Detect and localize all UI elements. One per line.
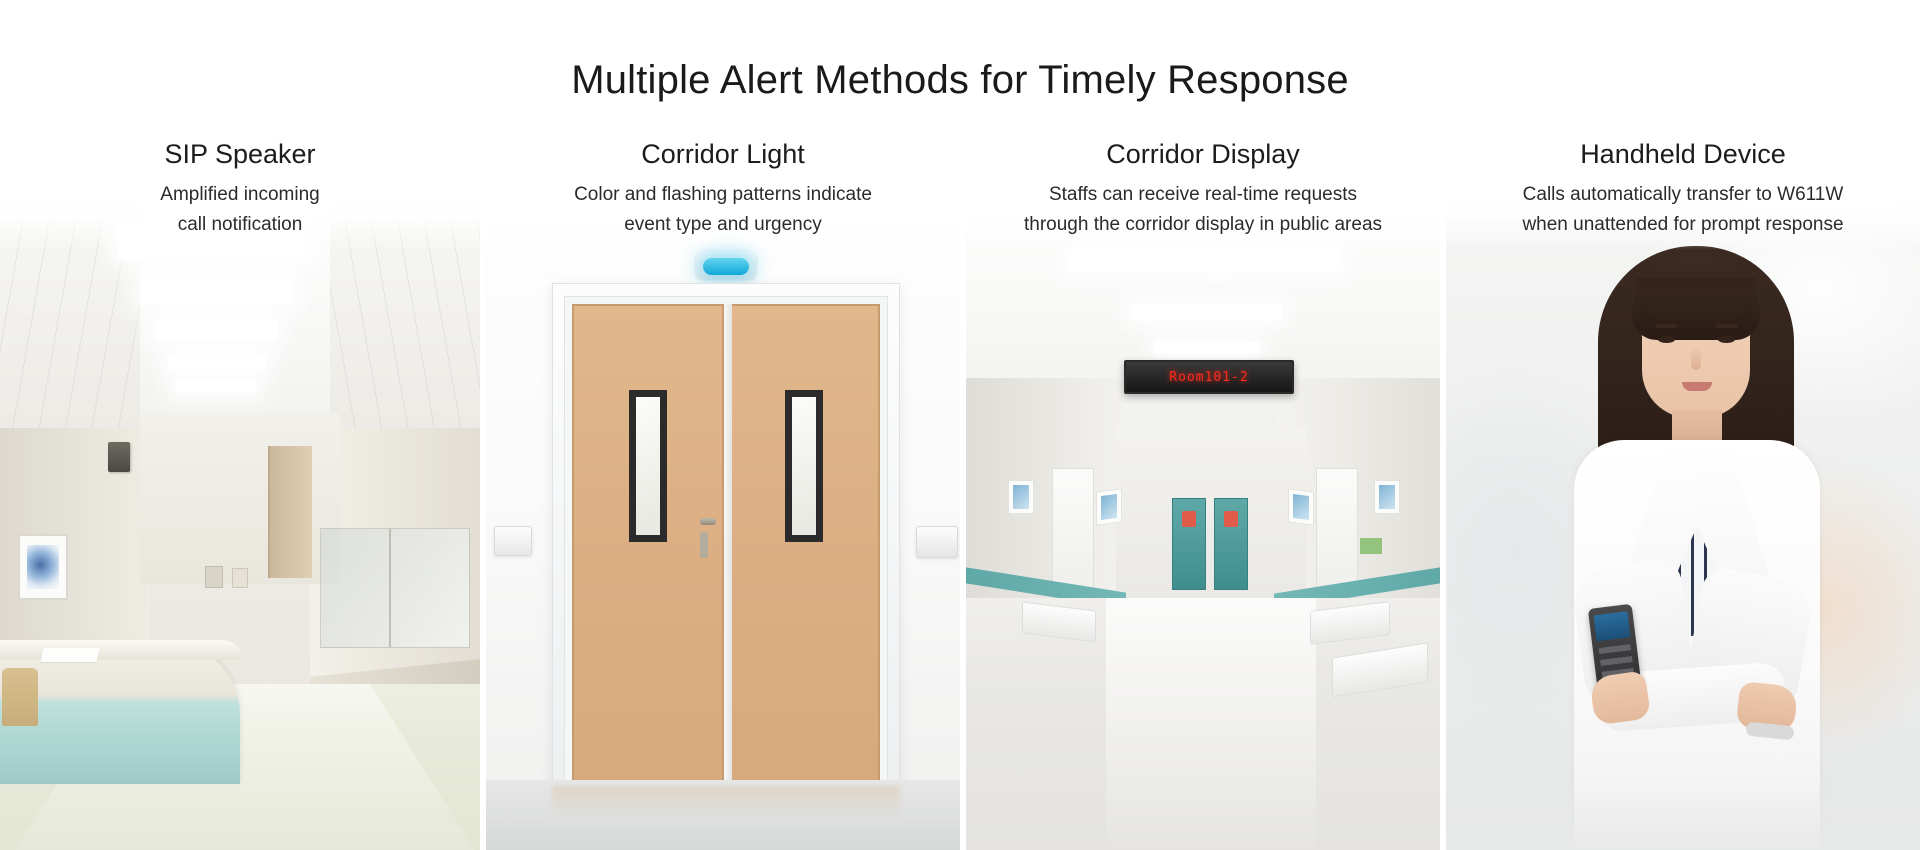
description-line-2: through the corridor display in public a…: [1024, 210, 1382, 239]
wall-speaker-icon: [108, 442, 130, 472]
column-sip-speaker: SIP Speaker Amplified incoming call noti…: [0, 128, 480, 850]
column-heading: Handheld Device: [1580, 138, 1786, 170]
description-line-2: call notification: [160, 210, 319, 239]
column-handheld-device: Handheld Device Calls automatically tran…: [1440, 128, 1920, 850]
led-display-text: Room101-2: [1169, 370, 1248, 385]
page-title: Multiple Alert Methods for Timely Respon…: [0, 58, 1920, 103]
led-corridor-display: Room101-2: [1124, 360, 1294, 394]
corridor-light-indicator: [703, 258, 749, 275]
column-description: Amplified incoming call notification: [154, 180, 325, 239]
column-heading: Corridor Light: [641, 138, 805, 170]
description-line-1: Amplified incoming: [160, 180, 319, 209]
column-corridor-display: Room101-2 Corridor Display: [960, 128, 1440, 850]
description-line-1: Staffs can receive real-time requests: [1024, 180, 1382, 209]
column-description: Color and flashing patterns indicate eve…: [568, 180, 878, 239]
column-description: Calls automatically transfer to W611W wh…: [1516, 180, 1849, 239]
description-line-1: Color and flashing patterns indicate: [574, 180, 872, 209]
alert-methods-infographic: Multiple Alert Methods for Timely Respon…: [0, 0, 1920, 850]
description-line-2: event type and urgency: [574, 210, 872, 239]
columns-container: SIP Speaker Amplified incoming call noti…: [0, 128, 1920, 850]
column-heading: SIP Speaker: [164, 138, 315, 170]
column-corridor-light: Corridor Light Color and flashing patter…: [480, 128, 960, 850]
column-heading: Corridor Display: [1106, 138, 1300, 170]
door-handle-icon: [700, 518, 716, 525]
description-line-1: Calls automatically transfer to W611W: [1522, 180, 1843, 209]
column-description: Staffs can receive real-time requests th…: [1018, 180, 1388, 239]
description-line-2: when unattended for prompt response: [1522, 210, 1843, 239]
